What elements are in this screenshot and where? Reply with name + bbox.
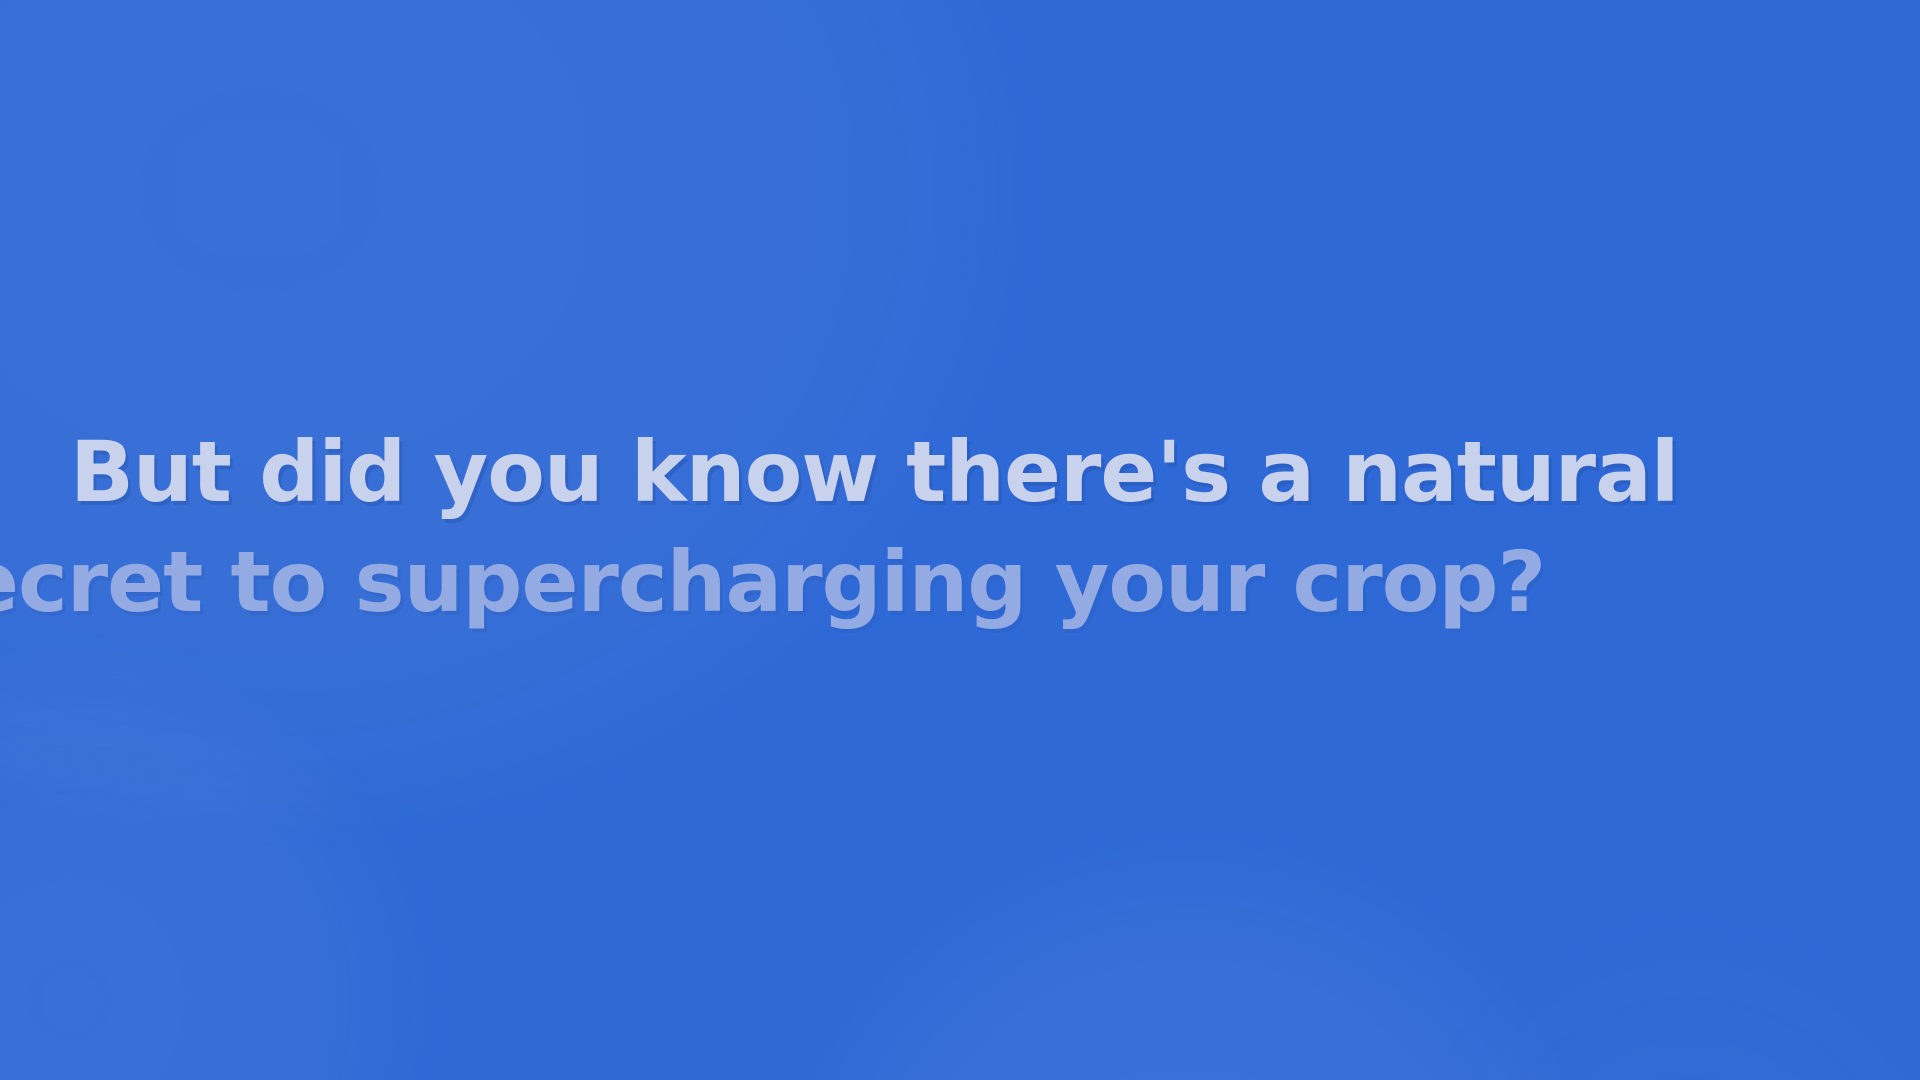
caption-line-primary: But did you know there's a natural <box>70 430 1679 514</box>
caption-line-secondary: ecret to supercharging your crop? <box>0 540 1545 624</box>
caption-text-block: But did you know there's a natural ecret… <box>0 0 1920 1080</box>
caption-frame-stage: But did you know there's a natural ecret… <box>0 0 1920 1080</box>
